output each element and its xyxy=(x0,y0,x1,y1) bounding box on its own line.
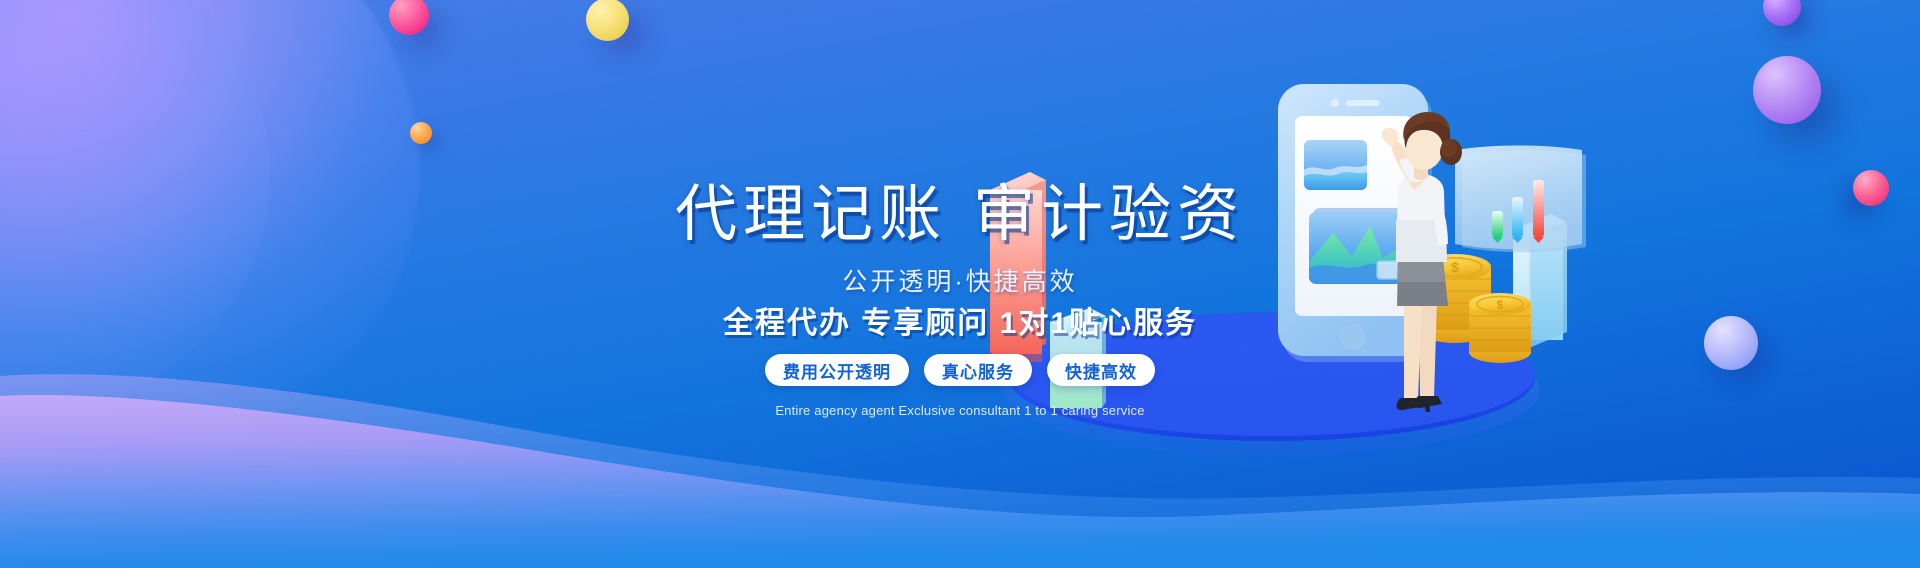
page-title: 代理记账审计验资 xyxy=(0,178,1920,252)
banner-subtitle: 公开透明·快捷高效 xyxy=(0,265,1920,299)
feature-pill-row: 费用公开透明 真心服务 快捷高效 xyxy=(0,354,1920,386)
headline-left: 代理记账 xyxy=(675,180,947,249)
promo-banner: $ $ xyxy=(0,0,1920,568)
feature-pill-fast-efficient[interactable]: 快捷高效 xyxy=(1047,354,1155,386)
feature-pill-transparent-fee[interactable]: 费用公开透明 xyxy=(765,354,909,386)
headline-right: 审计验资 xyxy=(973,180,1245,249)
banner-english-subtitle: Entire agency agent Exclusive consultant… xyxy=(0,402,1920,420)
feature-pill-sincere-service[interactable]: 真心服务 xyxy=(924,354,1032,386)
banner-tagline: 全程代办 专享顾问 1对1贴心服务 xyxy=(0,304,1920,344)
